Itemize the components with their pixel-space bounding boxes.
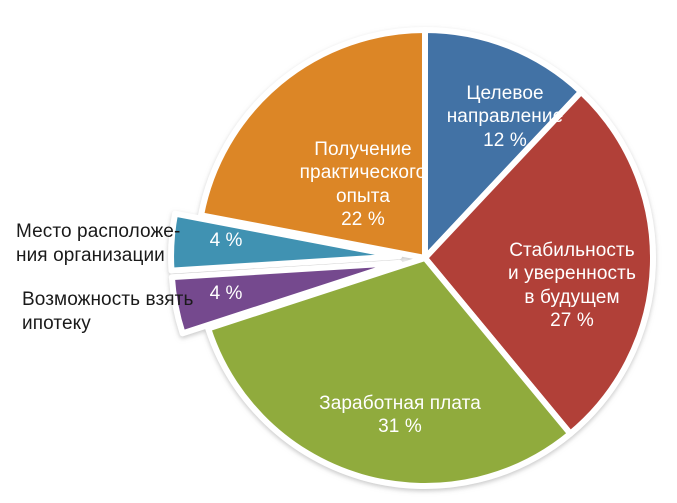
pie-slice-prakticheskiy-opyt[interactable]: [201, 30, 425, 258]
slice-label-mesto-raspolozheniya: Место расположе- ния организации: [16, 220, 216, 269]
pie-chart: Целевое направление 12 % Стабильность и …: [0, 0, 677, 503]
slice-label-ipoteka: Возможность взять ипотеку: [22, 288, 222, 337]
